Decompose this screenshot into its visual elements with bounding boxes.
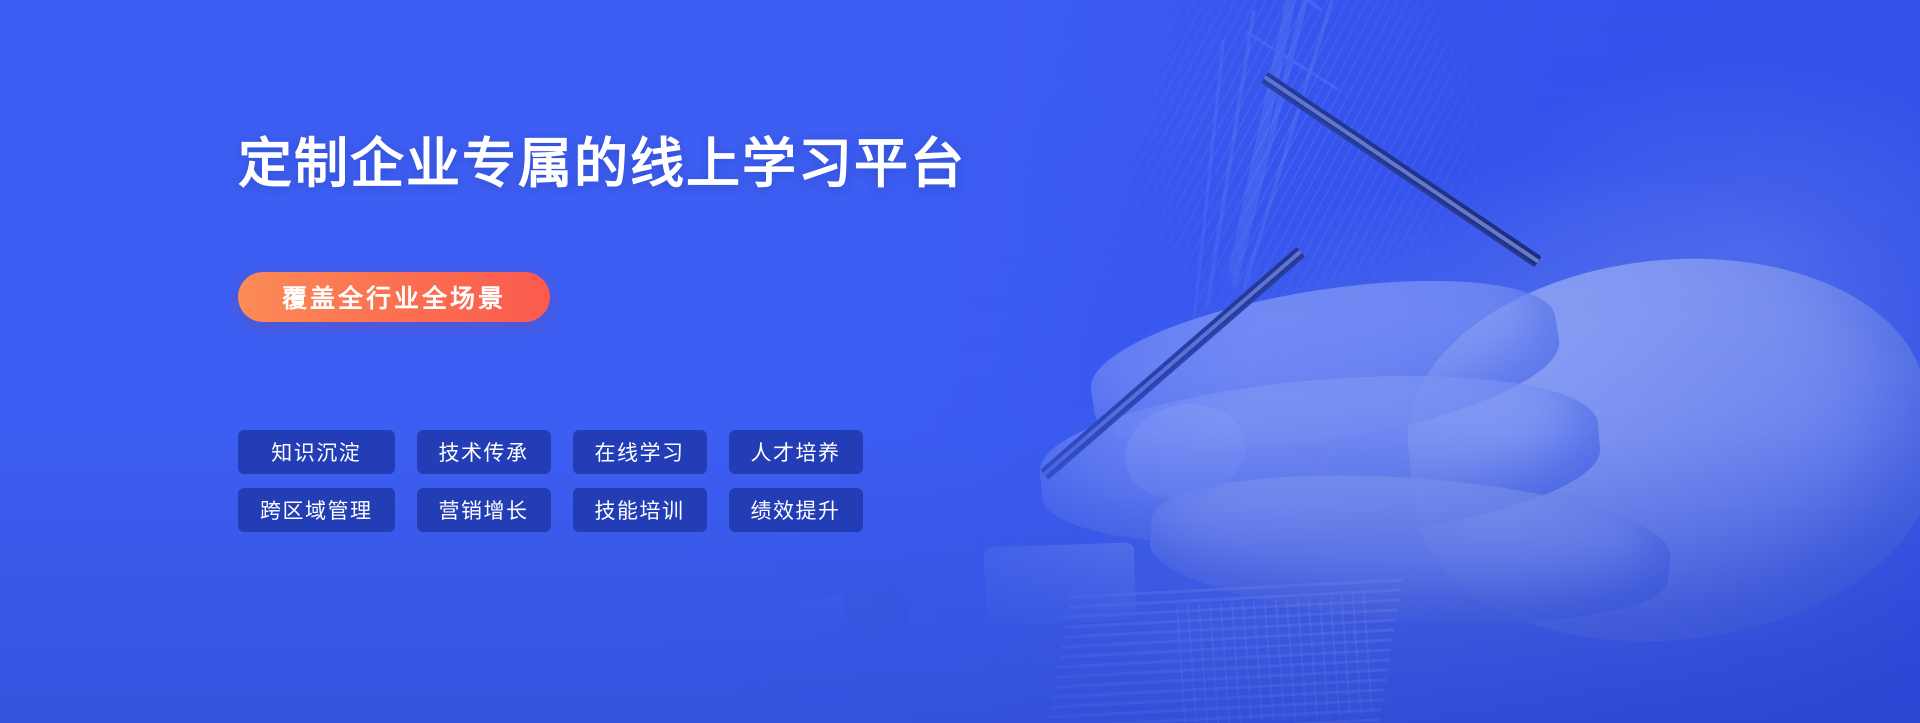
feature-tag[interactable]: 在线学习 xyxy=(573,430,707,474)
banner-content: 定制企业专属的线上学习平台 覆盖全行业全场景 知识沉淀 技术传承 在线学习 人才… xyxy=(238,0,1138,723)
feature-tag-grid: 知识沉淀 技术传承 在线学习 人才培养 跨区域管理 营销增长 技能培训 绩效提升 xyxy=(238,430,863,532)
feature-tag[interactable]: 绩效提升 xyxy=(729,488,863,532)
feature-tag[interactable]: 技术传承 xyxy=(417,430,551,474)
banner-headline: 定制企业专属的线上学习平台 xyxy=(238,133,966,195)
hero-banner: 定制企业专属的线上学习平台 覆盖全行业全场景 知识沉淀 技术传承 在线学习 人才… xyxy=(0,0,1920,723)
feature-tag[interactable]: 知识沉淀 xyxy=(238,430,395,474)
blueprint-document-lines xyxy=(1176,594,1374,723)
feature-tag[interactable]: 技能培训 xyxy=(573,488,707,532)
coverage-badge[interactable]: 覆盖全行业全场景 xyxy=(238,272,550,322)
feature-tag[interactable]: 人才培养 xyxy=(729,430,863,474)
feature-tag[interactable]: 营销增长 xyxy=(417,488,551,532)
feature-tag[interactable]: 跨区域管理 xyxy=(238,488,395,532)
